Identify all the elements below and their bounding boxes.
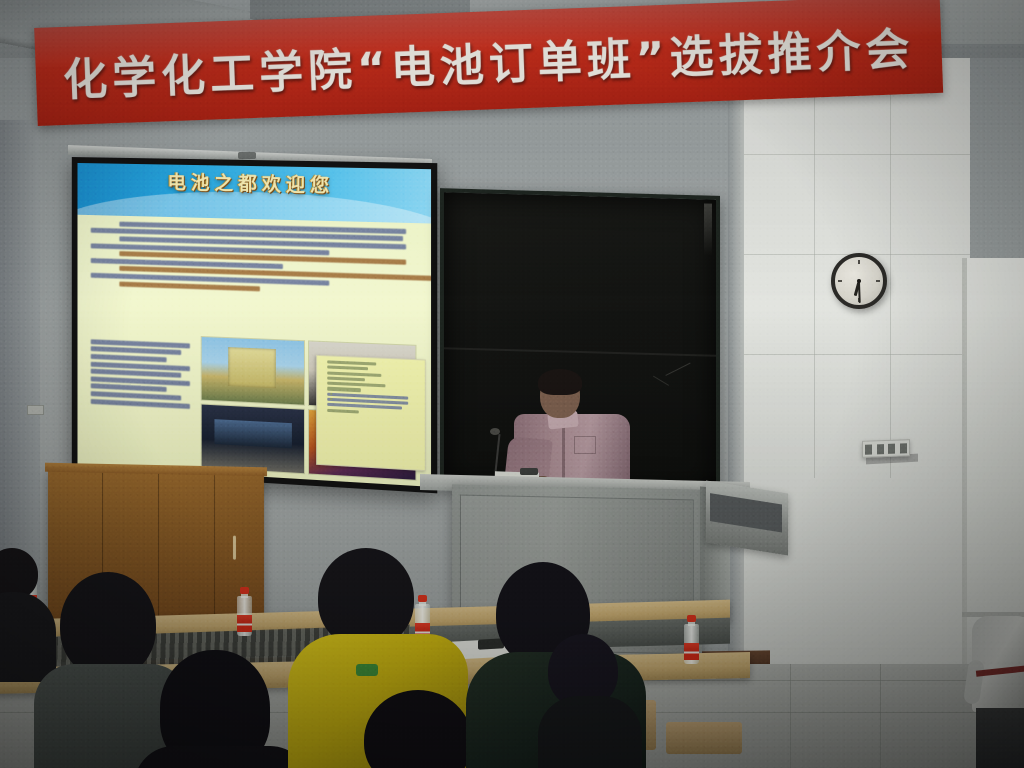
switch-toggle[interactable] xyxy=(877,444,884,454)
chalk-mark xyxy=(653,376,669,386)
switch-toggle[interactable] xyxy=(888,443,895,453)
campus-building-photo xyxy=(201,336,306,406)
classroom-scene-photo: 化学化工学院“电池订单班”选拔推介会 电池之都欢迎您 xyxy=(0,0,1024,768)
cabinet-handle[interactable] xyxy=(233,536,236,560)
banner-text: 化学化工学院“电池订单班”选拔推介会 xyxy=(62,13,916,108)
slide-lower-text xyxy=(91,339,194,409)
presentation-slide: 电池之都欢迎您 xyxy=(77,163,431,487)
wall-outlet[interactable] xyxy=(27,405,44,415)
standing-person-right xyxy=(972,616,1024,768)
conference-hall-photo xyxy=(201,404,306,475)
projection-screen: 电池之都欢迎您 xyxy=(72,157,437,493)
clock-minute-hand xyxy=(858,282,861,303)
wall-clock xyxy=(831,253,887,309)
slide-header-band: 电池之都欢迎您 xyxy=(77,163,431,223)
student-long-hair xyxy=(140,650,300,768)
presenter-hair xyxy=(538,369,582,395)
object-on-podium xyxy=(520,468,538,475)
water-bottle[interactable] xyxy=(237,588,252,636)
microphone-icon xyxy=(490,428,500,435)
shirt-placket xyxy=(562,422,565,482)
wall-shelf xyxy=(706,481,788,556)
blackboard-seam xyxy=(444,347,716,357)
water-bottle[interactable] xyxy=(684,616,699,664)
chalk-mark xyxy=(665,363,690,376)
slide-context-menu[interactable] xyxy=(316,355,426,471)
wall-column-left xyxy=(0,120,40,590)
switch-toggle[interactable] xyxy=(900,443,907,453)
person-legs xyxy=(976,708,1024,768)
clock-center-pin xyxy=(857,279,861,283)
student-behind-right xyxy=(548,634,638,754)
shirt-logo xyxy=(356,664,378,676)
chair-back xyxy=(666,722,742,754)
slide-title: 电池之都欢迎您 xyxy=(77,166,431,200)
shelf-recess xyxy=(710,493,782,532)
shirt-pocket xyxy=(574,436,596,454)
switch-toggle[interactable] xyxy=(865,444,872,454)
right-wall xyxy=(740,58,970,678)
light-switch-panel[interactable] xyxy=(862,439,910,458)
blackboard-glint xyxy=(704,203,712,255)
wall-column-right xyxy=(728,58,744,678)
screen-pull-knob[interactable] xyxy=(238,152,256,159)
